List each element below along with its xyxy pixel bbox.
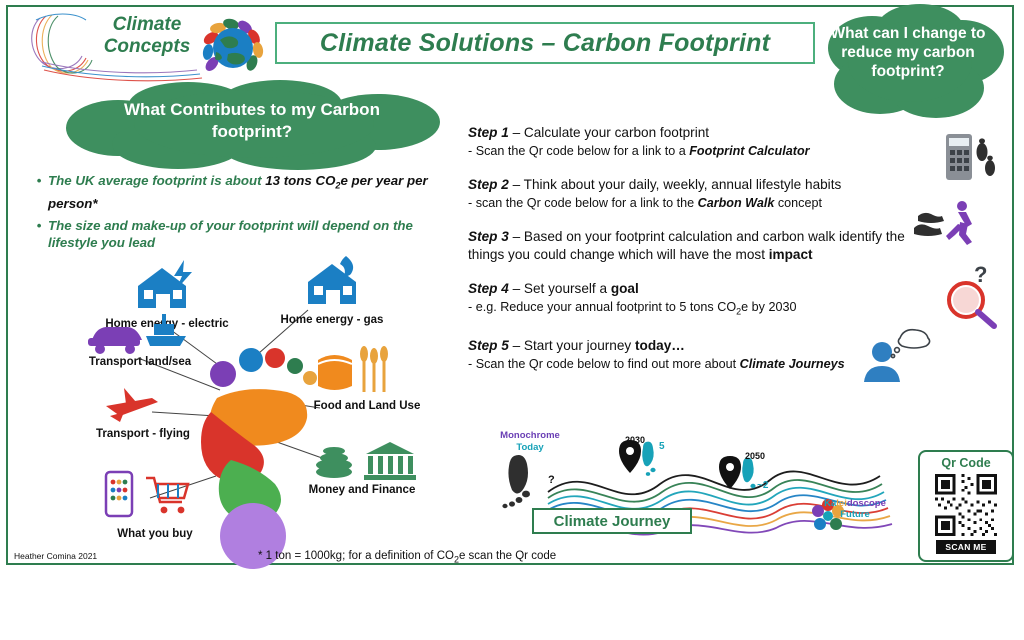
thought-bubble-icon bbox=[891, 330, 929, 358]
step-5-sub-pre: - Scan the Qr code below to find out mor… bbox=[468, 357, 740, 371]
bullet-1-pre: The UK average footprint is about bbox=[48, 173, 265, 188]
step-2: Step 2 – Think about your daily, weekly,… bbox=[468, 176, 954, 212]
bullet-1-bold: 13 tons CO bbox=[265, 173, 335, 188]
page-title: Climate Solutions – Carbon Footprint bbox=[320, 29, 770, 58]
step-4-dash: – bbox=[509, 281, 524, 296]
toe-red bbox=[265, 348, 285, 368]
footprint-icon bbox=[642, 442, 655, 476]
brand-title: Climate Concepts bbox=[82, 14, 212, 58]
step-1-dash: – bbox=[509, 125, 524, 140]
label-transport-flying: Transport - flying bbox=[68, 428, 218, 441]
step-4: Step 4 – Set yourself a goal - e.g. Redu… bbox=[468, 280, 954, 321]
step-5-sub-em: Climate Journeys bbox=[740, 357, 845, 371]
step-4-head: Set yourself a bbox=[524, 281, 611, 296]
kaleido-part-1: Ka bbox=[824, 498, 836, 509]
pin-2050-label: 2050 bbox=[745, 451, 765, 461]
step-2-sub-em: Carbon Walk bbox=[698, 196, 775, 210]
question-mark-icon: ? bbox=[974, 262, 987, 287]
step-1-sub-em: Footprint Calculator bbox=[689, 144, 809, 158]
house-flame-icon bbox=[298, 254, 368, 310]
coins-icon bbox=[308, 436, 418, 488]
car-icon bbox=[82, 310, 192, 358]
step-4-sub-pre: - e.g. Reduce your annual footprint to 5… bbox=[468, 300, 736, 314]
person-thinking-icon bbox=[856, 324, 934, 384]
footprint-icon bbox=[742, 458, 755, 489]
step-1: Step 1 – Calculate your carbon footprint… bbox=[468, 124, 954, 160]
calculator-icon bbox=[944, 132, 996, 184]
shoes-icon bbox=[914, 213, 944, 236]
brand-block: Climate Concepts bbox=[22, 10, 272, 88]
step-1-label: Step 1 bbox=[468, 125, 509, 140]
step-2-dash: – bbox=[509, 177, 524, 192]
step-4-sub-post: e by 2030 bbox=[741, 300, 796, 314]
footnote-pre: * 1 ton = 1000kg; for a definition of CO bbox=[258, 550, 454, 562]
label-what-you-buy: What you buy bbox=[80, 528, 230, 541]
earth-globe-icon bbox=[198, 18, 262, 82]
step-2-sub-post: concept bbox=[774, 196, 822, 210]
step-5-label: Step 5 bbox=[468, 338, 509, 353]
bullet-marker: • bbox=[30, 172, 48, 213]
question-cloud-text: What can I change to reduce my carbon fo… bbox=[828, 24, 988, 81]
footprint-icon bbox=[502, 455, 530, 508]
label-money-and-finance: Money and Finance bbox=[282, 484, 442, 497]
step-1-sub-pre: - Scan the Qr code below for a link to a bbox=[468, 144, 689, 158]
step-1-head: Calculate your carbon footprint bbox=[524, 125, 709, 140]
step-5-dash: – bbox=[509, 338, 524, 353]
footnote-post: e scan the Qr code bbox=[459, 550, 556, 562]
bank-icon bbox=[364, 442, 416, 480]
contributes-cloud-text: What Contributes to my Carbon footprint? bbox=[92, 99, 412, 143]
label-transport-land-sea: Transport land/sea bbox=[70, 356, 210, 369]
footprints-icon bbox=[977, 138, 996, 176]
label-food-and-land-use: Food and Land Use bbox=[292, 400, 442, 413]
qr-scan-label[interactable]: SCAN ME bbox=[936, 540, 996, 554]
pin-2050-value: ~2 bbox=[757, 480, 768, 491]
climate-journey-box: Climate Journey bbox=[532, 508, 692, 534]
pin-2030-value: 5 bbox=[659, 441, 665, 452]
bread-wheat-icon bbox=[312, 342, 402, 400]
house-lightning-icon bbox=[130, 260, 200, 316]
slide-root: Climate Concepts bbox=[0, 0, 1024, 576]
footprint-diagram: Home energy - electric Home energy - gas… bbox=[20, 240, 450, 560]
step-4-head-bold: goal bbox=[611, 281, 639, 296]
step-3-head: Based on your footprint calculation and … bbox=[468, 229, 905, 262]
toe-green bbox=[287, 358, 303, 374]
footnote: * 1 ton = 1000kg; for a definition of CO… bbox=[258, 550, 556, 564]
kaleido-future: Future bbox=[814, 509, 896, 520]
bullet-item-1: • The UK average footprint is about 13 t… bbox=[30, 172, 440, 213]
step-4-label: Step 4 bbox=[468, 281, 509, 296]
step-3-dash: – bbox=[509, 229, 524, 244]
walking-person-icon bbox=[912, 198, 984, 244]
toe-blue bbox=[239, 348, 263, 372]
qr-code-panel[interactable]: Qr Code bbox=[918, 450, 1014, 562]
smartphone-icon bbox=[98, 468, 198, 526]
step-2-label: Step 2 bbox=[468, 177, 509, 192]
journey-question-mark: ? bbox=[548, 474, 555, 486]
toe-purple bbox=[210, 361, 236, 387]
label-home-energy-gas: Home energy - gas bbox=[258, 314, 406, 327]
kaleido-part-2: lei bbox=[836, 498, 847, 509]
step-2-sub-pre: - scan the Qr code below for a link to t… bbox=[468, 196, 698, 210]
climate-journey-label: Climate Journey bbox=[554, 513, 671, 530]
step-2-head: Think about your daily, weekly, annual l… bbox=[524, 177, 842, 192]
step-5-head-bold: today… bbox=[635, 338, 685, 353]
monochrome-today-label: Monochrome Today bbox=[490, 430, 570, 454]
pin-2030-label: 2030 bbox=[625, 435, 645, 445]
magnifying-glass-icon: ? bbox=[930, 264, 1002, 326]
step-3-label: Step 3 bbox=[468, 229, 509, 244]
slide-title-box: Climate Solutions – Carbon Footprint bbox=[275, 22, 815, 64]
map-pin-icon bbox=[719, 456, 741, 489]
qr-title: Qr Code bbox=[920, 456, 1012, 470]
kaleidoscope-future-label: Kaleidoscope Future bbox=[814, 498, 896, 520]
author-credit: Heather Comina 2021 bbox=[14, 551, 97, 561]
qr-code-icon[interactable] bbox=[934, 474, 998, 536]
step-3: Step 3 – Based on your footprint calcula… bbox=[468, 228, 944, 264]
step-3-head-bold: impact bbox=[769, 247, 813, 262]
kaleido-part-3: doscope bbox=[847, 498, 886, 509]
airplane-icon bbox=[102, 382, 164, 426]
step-5-head: Start your journey bbox=[524, 338, 635, 353]
